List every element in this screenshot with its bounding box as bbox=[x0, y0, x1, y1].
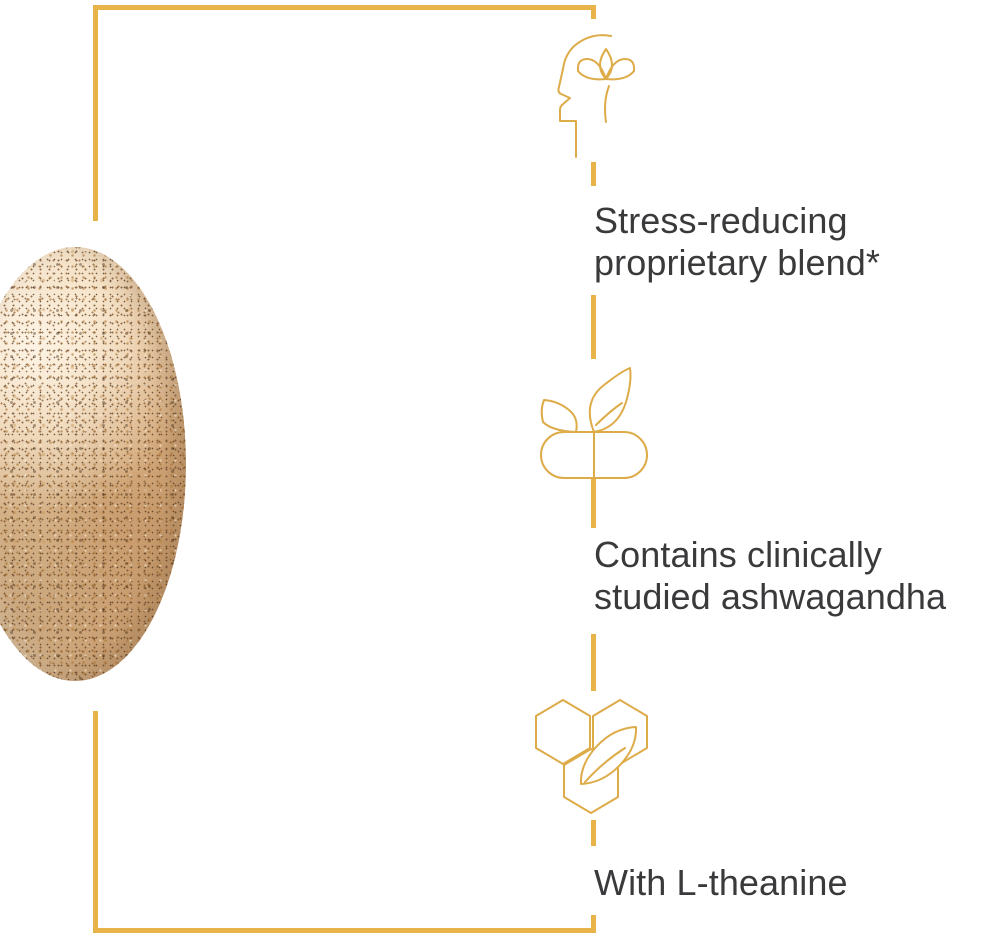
honeycomb-leaf-icon-svg bbox=[524, 692, 664, 832]
connector-dash-1 bbox=[591, 162, 596, 186]
frame-bottom-right-stub bbox=[591, 915, 596, 933]
head-lotus-icon bbox=[524, 24, 664, 164]
capsule-leaf-icon-svg bbox=[524, 357, 664, 497]
supplement-tablet-image bbox=[0, 247, 186, 681]
product-feature-graphic: Stress-reducing proprietary blend* Conta… bbox=[0, 0, 1000, 938]
frame-top-right-stub bbox=[591, 5, 596, 19]
feature-text-ashwagandha: Contains clinically studied ashwagandha bbox=[594, 534, 1000, 619]
frame-bottom-horizontal-line bbox=[93, 928, 596, 933]
frame-left-upper-line bbox=[93, 5, 98, 221]
frame-left-lower-line bbox=[93, 711, 98, 933]
feature-text-stress: Stress-reducing proprietary blend* bbox=[594, 200, 994, 285]
capsule-leaf-icon bbox=[524, 357, 664, 497]
feature-text-theanine: With L-theanine bbox=[594, 862, 994, 904]
connector-dash-4 bbox=[591, 634, 596, 691]
head-lotus-icon-svg bbox=[524, 24, 664, 164]
frame-top-horizontal-line bbox=[93, 5, 596, 10]
tablet-body bbox=[0, 247, 186, 681]
connector-dash-2 bbox=[591, 295, 596, 359]
honeycomb-leaf-icon bbox=[524, 692, 664, 832]
